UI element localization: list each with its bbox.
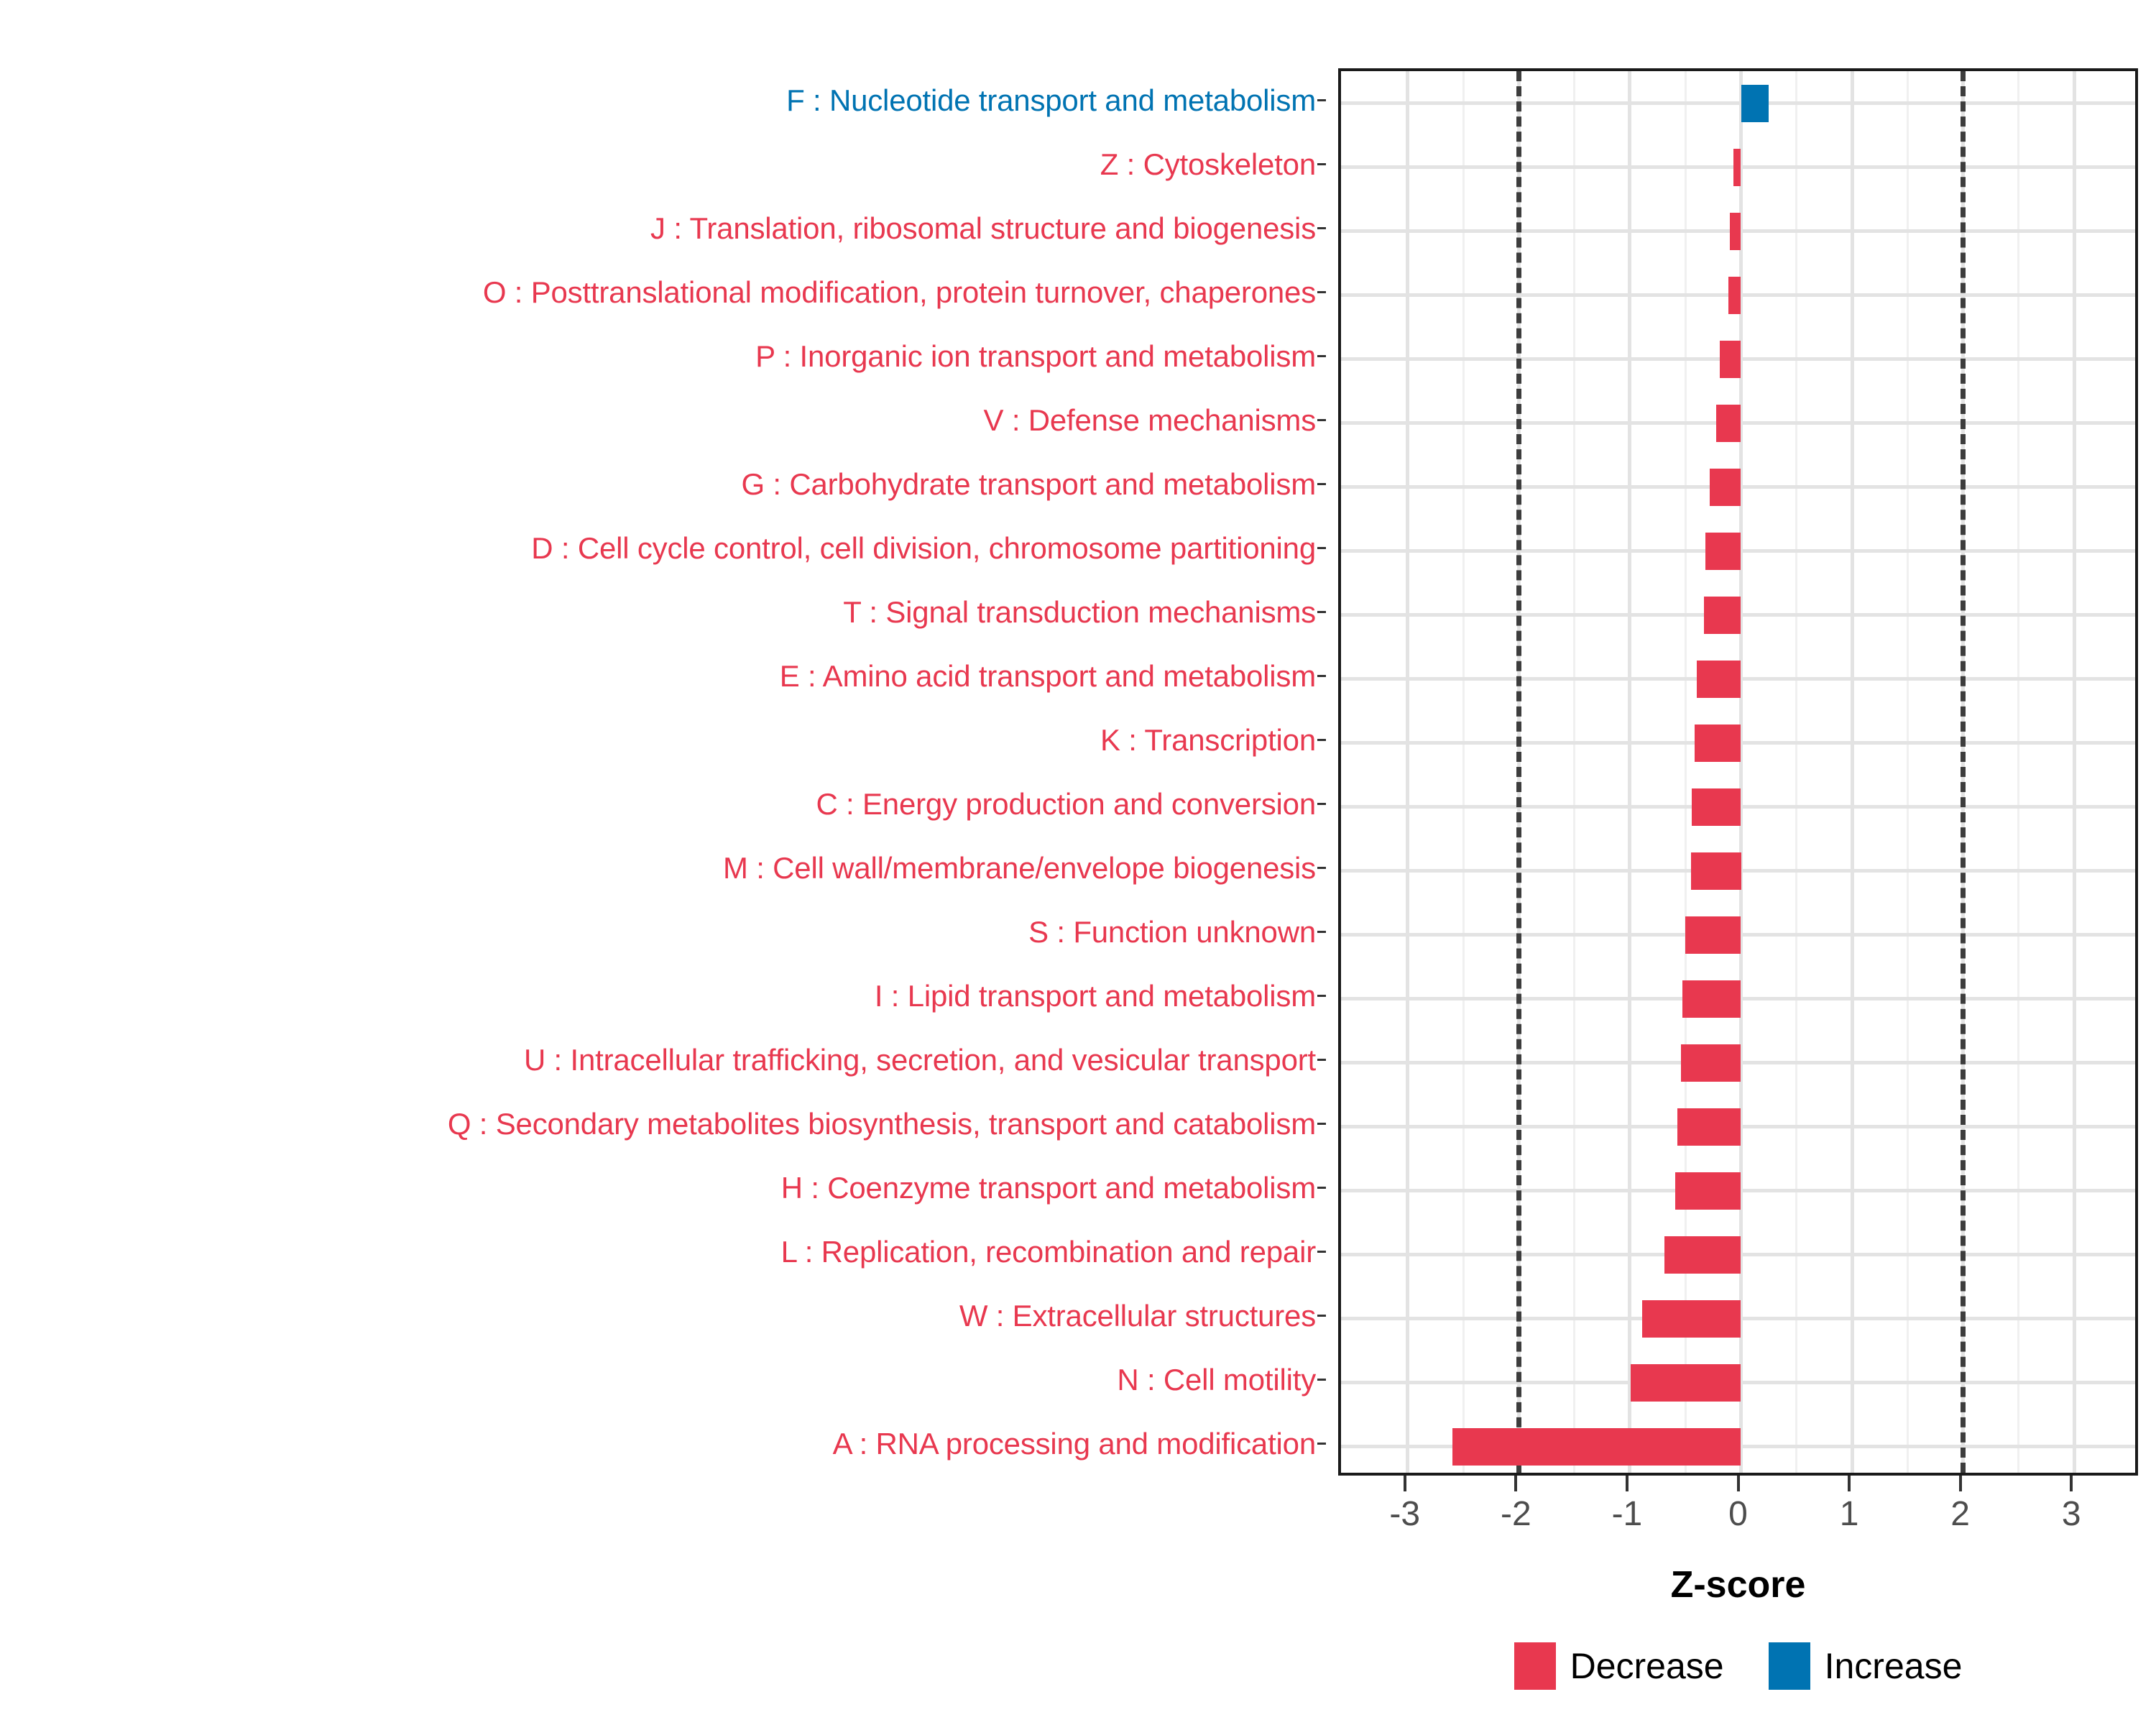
bar[interactable] — [1710, 469, 1741, 506]
y-axis-tick-label: C : Energy production and conversion — [816, 789, 1326, 819]
bar[interactable] — [1452, 1428, 1741, 1466]
y-axis-tick-mark — [1317, 867, 1326, 869]
bar[interactable] — [1730, 213, 1741, 250]
x-axis-tick-mark — [2070, 1476, 2073, 1491]
bar[interactable] — [1682, 980, 1741, 1018]
bar[interactable] — [1685, 916, 1741, 954]
y-axis-tick-mark — [1317, 355, 1326, 357]
y-axis-tick-mark — [1317, 675, 1326, 677]
y-axis-tick-mark — [1317, 1187, 1326, 1189]
y-axis-tick-mark — [1317, 227, 1326, 229]
reference-line — [1516, 71, 1521, 1473]
y-axis-tick-label: S : Function unknown — [1028, 917, 1326, 947]
bar[interactable] — [1716, 405, 1741, 442]
y-axis-tick-label: O : Posttranslational modification, prot… — [483, 277, 1326, 308]
x-axis-tick-label: 1 — [1840, 1494, 1859, 1534]
y-axis-tick-label: D : Cell cycle control, cell division, c… — [531, 533, 1326, 563]
bar[interactable] — [1692, 788, 1741, 826]
y-axis-tick-label: G : Carbohydrate transport and metabolis… — [741, 469, 1326, 500]
legend-label: Decrease — [1570, 1645, 1724, 1687]
x-axis-tick-label: -2 — [1501, 1494, 1531, 1534]
x-axis-tick-mark — [1404, 1476, 1406, 1491]
x-axis-tick-mark — [1514, 1476, 1517, 1491]
plot-panel — [1338, 68, 2138, 1476]
x-axis-tick-mark — [1848, 1476, 1851, 1491]
legend-swatch-icon — [1514, 1642, 1556, 1690]
y-axis-tick-mark — [1317, 547, 1326, 549]
gridline-vertical — [1628, 71, 1631, 1473]
y-axis-tick-label: Z : Cytoskeleton — [1100, 149, 1326, 180]
y-axis-tick-mark — [1317, 611, 1326, 613]
gridline-vertical-minor — [1573, 71, 1575, 1473]
bar[interactable] — [1691, 852, 1741, 890]
x-axis-tick-label: -1 — [1612, 1494, 1643, 1534]
y-axis-tick-mark — [1317, 1315, 1326, 1317]
y-axis-tick-label: N : Cell motility — [1117, 1365, 1326, 1395]
y-axis-tick-mark — [1317, 1123, 1326, 1125]
legend-swatch-icon — [1769, 1642, 1810, 1690]
x-axis-tick-label: 3 — [2062, 1494, 2081, 1534]
bar[interactable] — [1720, 341, 1741, 378]
x-axis-tick-mark — [1959, 1476, 1962, 1491]
gridline-vertical-minor — [1462, 71, 1465, 1473]
y-axis-tick-label: A : RNA processing and modification — [833, 1429, 1326, 1459]
y-axis-tick-mark — [1317, 1251, 1326, 1253]
gridline-vertical-minor — [1795, 71, 1797, 1473]
x-axis-tick-mark — [1626, 1476, 1628, 1491]
bar[interactable] — [1642, 1300, 1741, 1338]
gridline-horizontal — [1341, 101, 2135, 105]
bar[interactable] — [1675, 1172, 1741, 1210]
legend-item-increase[interactable]: Increase — [1769, 1642, 1963, 1690]
x-axis-tick-label: 2 — [1950, 1494, 1970, 1534]
y-axis-tick-mark — [1317, 739, 1326, 741]
bar[interactable] — [1695, 724, 1741, 762]
legend: DecreaseIncrease — [1338, 1642, 2138, 1690]
bar[interactable] — [1631, 1364, 1741, 1402]
y-axis-tick-label: H : Coenzyme transport and metabolism — [781, 1173, 1326, 1203]
y-axis-tick-label: V : Defense mechanisms — [984, 405, 1326, 436]
y-axis-tick-label: T : Signal transduction mechanisms — [843, 597, 1326, 627]
cog-zscore-bar-chart: F : Nucleotide transport and metabolismZ… — [0, 0, 2156, 1725]
y-axis-tick-mark — [1317, 995, 1326, 997]
y-axis-tick-mark — [1317, 99, 1326, 101]
y-axis-tick-label: W : Extracellular structures — [959, 1301, 1326, 1331]
y-axis-tick-label: J : Translation, ribosomal structure and… — [650, 213, 1326, 244]
bar[interactable] — [1728, 277, 1741, 314]
gridline-vertical — [1406, 71, 1409, 1473]
bar[interactable] — [1677, 1108, 1741, 1146]
y-axis-tick-label: U : Intracellular trafficking, secretion… — [524, 1045, 1326, 1075]
y-axis-tick-label: M : Cell wall/membrane/envelope biogenes… — [723, 853, 1326, 883]
y-axis-tick-label: F : Nucleotide transport and metabolism — [786, 86, 1326, 116]
y-axis-tick-mark — [1317, 1443, 1326, 1445]
y-axis-tick-mark — [1317, 803, 1326, 805]
bar[interactable] — [1733, 149, 1741, 186]
y-axis-tick-mark — [1317, 483, 1326, 485]
x-axis-tick-mark — [1737, 1476, 1740, 1491]
y-axis-tick-mark — [1317, 291, 1326, 293]
gridline-vertical-minor — [1907, 71, 1909, 1473]
y-axis-tick-label: Q : Secondary metabolites biosynthesis, … — [448, 1109, 1326, 1139]
reference-line — [1961, 71, 1966, 1473]
y-axis-tick-label: E : Amino acid transport and metabolism — [780, 661, 1326, 691]
gridline-vertical-minor — [2017, 71, 2019, 1473]
x-axis-tick-label: 0 — [1728, 1494, 1748, 1534]
bar[interactable] — [1704, 597, 1741, 634]
x-axis: -3-2-10123 — [1338, 1476, 2138, 1569]
y-axis-tick-mark — [1317, 1059, 1326, 1061]
y-axis-category-labels: F : Nucleotide transport and metabolismZ… — [0, 68, 1326, 1476]
y-axis-tick-mark — [1317, 1379, 1326, 1381]
bar[interactable] — [1681, 1044, 1741, 1082]
legend-item-decrease[interactable]: Decrease — [1514, 1642, 1724, 1690]
gridline-vertical — [1851, 71, 1854, 1473]
x-axis-tick-label: -3 — [1389, 1494, 1420, 1534]
y-axis-tick-label: I : Lipid transport and metabolism — [875, 981, 1326, 1011]
y-axis-tick-mark — [1317, 163, 1326, 165]
bar[interactable] — [1705, 533, 1741, 570]
bar[interactable] — [1741, 85, 1769, 122]
y-axis-tick-label: L : Replication, recombination and repai… — [781, 1237, 1326, 1267]
x-axis-title: Z-score — [1338, 1563, 2138, 1606]
y-axis-tick-mark — [1317, 419, 1326, 421]
y-axis-tick-mark — [1317, 931, 1326, 933]
gridline-vertical — [2073, 71, 2076, 1473]
y-axis-tick-label: P : Inorganic ion transport and metaboli… — [755, 341, 1326, 372]
legend-label: Increase — [1825, 1645, 1963, 1687]
y-axis-tick-label: K : Transcription — [1100, 725, 1326, 755]
bar[interactable] — [1697, 661, 1741, 698]
bar[interactable] — [1664, 1236, 1741, 1274]
